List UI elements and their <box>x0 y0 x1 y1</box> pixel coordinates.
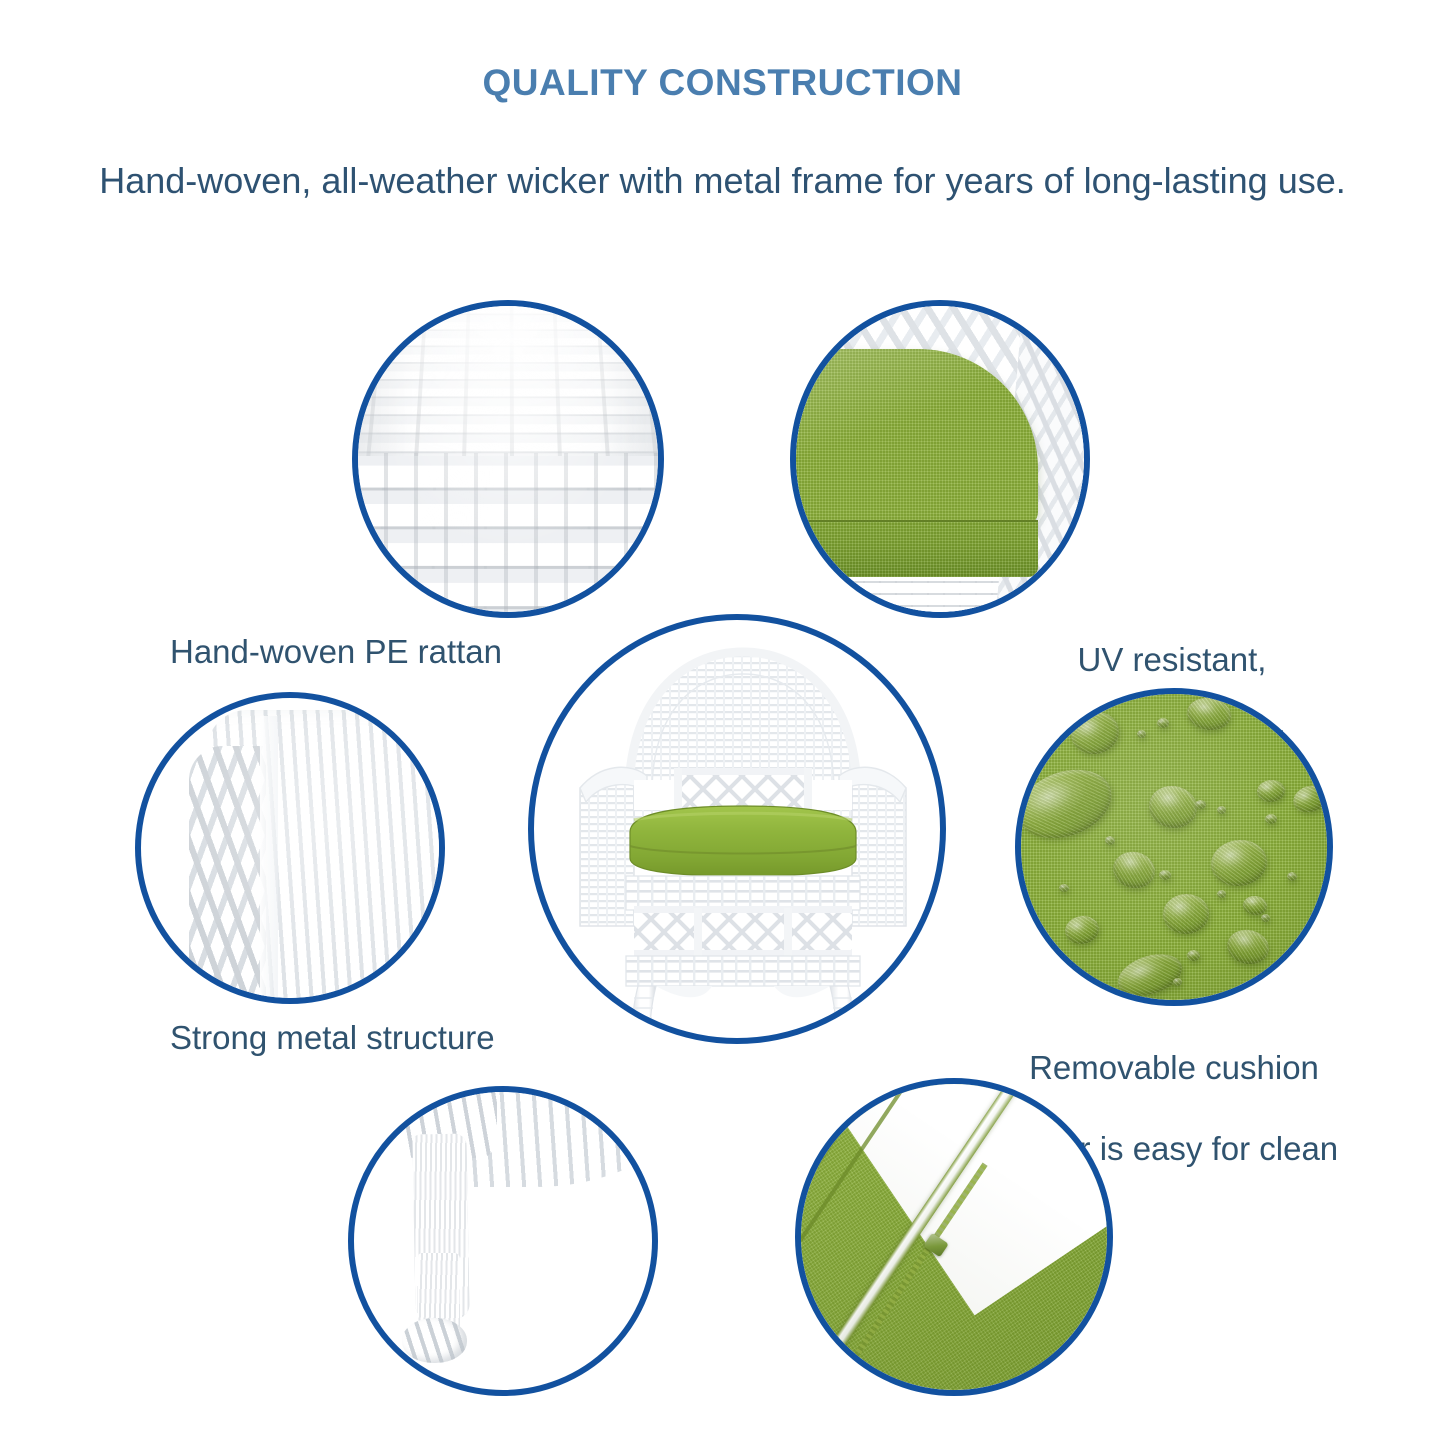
cushion-welt-texture <box>796 522 1038 577</box>
chair-illustration <box>534 620 940 1038</box>
feature-circle-strong-metal-structure <box>135 692 445 1004</box>
photo-vignette <box>1021 694 1327 1000</box>
photo-chair-leg-detail <box>354 1092 652 1390</box>
photo-uv-splash-resistant <box>796 306 1084 612</box>
feature-circle-removable-cushion-cover <box>1015 688 1333 1006</box>
photo-vignette <box>141 698 439 998</box>
green-cushion-welt-band <box>796 520 1038 577</box>
photo-water-droplets-on-fabric <box>1021 694 1327 1000</box>
photo-vignette <box>358 306 658 612</box>
caption-hand-woven-pe-rattan: Hand-woven PE rattan <box>170 632 502 672</box>
feature-circle-uv-splash-resistant <box>790 300 1090 618</box>
photo-strong-metal-structure <box>141 698 439 998</box>
page-title: QUALITY CONSTRUCTION <box>0 62 1445 104</box>
feature-circle-full-chair <box>528 614 946 1044</box>
photo-full-chair <box>534 620 940 1038</box>
feature-circle-hand-woven-pe-rattan <box>352 300 664 618</box>
page-subtitle: Hand-woven, all-weather wicker with meta… <box>0 160 1445 202</box>
feature-circle-cushion-zipper <box>795 1078 1113 1396</box>
photo-hand-woven-pe-rattan <box>358 306 658 612</box>
feature-circle-chair-leg-detail <box>348 1086 658 1396</box>
photo-cushion-zipper <box>801 1084 1107 1390</box>
cushion-fold-shadow <box>801 1084 1107 1390</box>
caption-line-1: Removable cushion <box>985 1048 1363 1088</box>
caption-line-1: UV resistant, <box>1046 640 1298 680</box>
caption-strong-metal-structure: Strong metal structure <box>170 1018 495 1058</box>
chair-leg-ball-foot <box>402 1318 468 1363</box>
